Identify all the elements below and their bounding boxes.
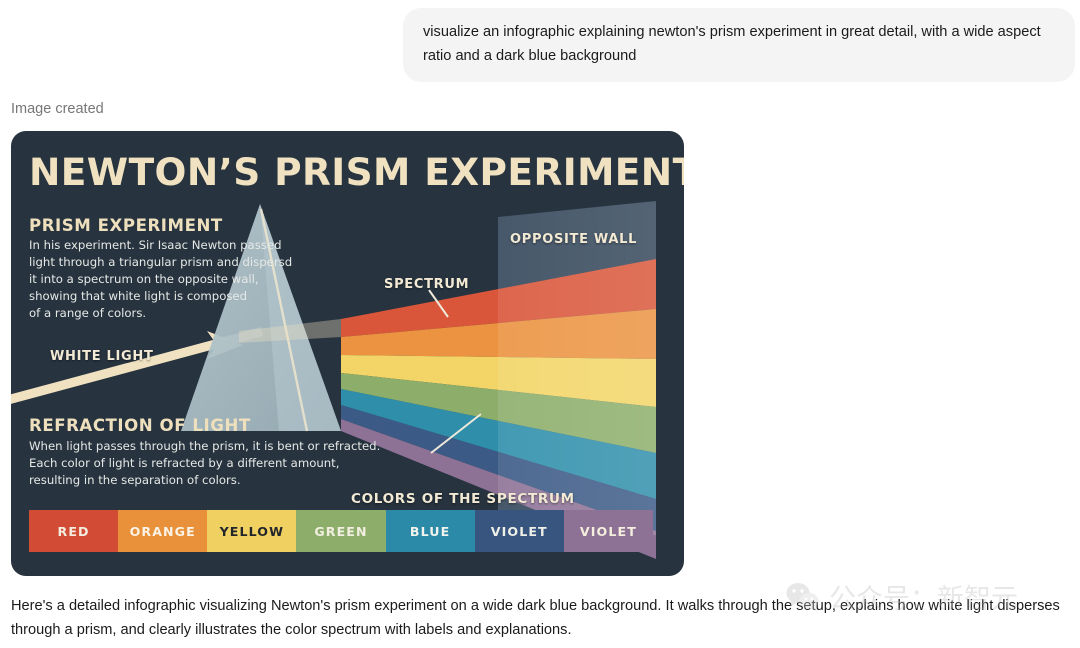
color-swatch-bar: REDORANGEYELLOWGREENBLUEVIOLETVIOLET	[29, 510, 653, 552]
color-swatch-orange-1: ORANGE	[118, 510, 207, 552]
infographic-title: NEWTON’S PRISM EXPERIMENT	[29, 150, 684, 194]
infographic-image[interactable]: NEWTON’S PRISM EXPERIMENT PRISM EXPERIME…	[11, 131, 684, 576]
color-swatch-blue-4: BLUE	[386, 510, 475, 552]
user-prompt-bubble: visualize an infographic explaining newt…	[403, 8, 1075, 82]
section-heading-refraction: REFRACTION OF LIGHT	[29, 416, 251, 435]
section-heading-prism: PRISM EXPERIMENT	[29, 216, 223, 235]
color-swatch-violet-6: VIOLET	[564, 510, 653, 552]
color-swatch-yellow-2: YELLOW	[207, 510, 296, 552]
label-white-light: WHITE LIGHT	[50, 349, 154, 364]
prompt-row: visualize an infographic explaining newt…	[403, 8, 1075, 82]
color-swatch-green-3: GREEN	[296, 510, 385, 552]
assistant-answer-text: Here's a detailed infographic visualizin…	[11, 595, 1067, 643]
color-swatch-violet-5: VIOLET	[475, 510, 564, 552]
color-swatch-red-0: RED	[29, 510, 118, 552]
label-opposite-wall: OPPOSITE WALL	[510, 232, 637, 247]
section-body-refraction: When light passes through the prism, it …	[29, 438, 399, 489]
label-colors-of-the-spectrum: COLORS OF THE SPECTRUM	[351, 491, 575, 507]
section-body-prism: In his experiment. Sir Isaac Newton pass…	[29, 237, 299, 322]
label-spectrum: SPECTRUM	[384, 277, 469, 292]
image-created-label: Image created	[11, 101, 104, 117]
